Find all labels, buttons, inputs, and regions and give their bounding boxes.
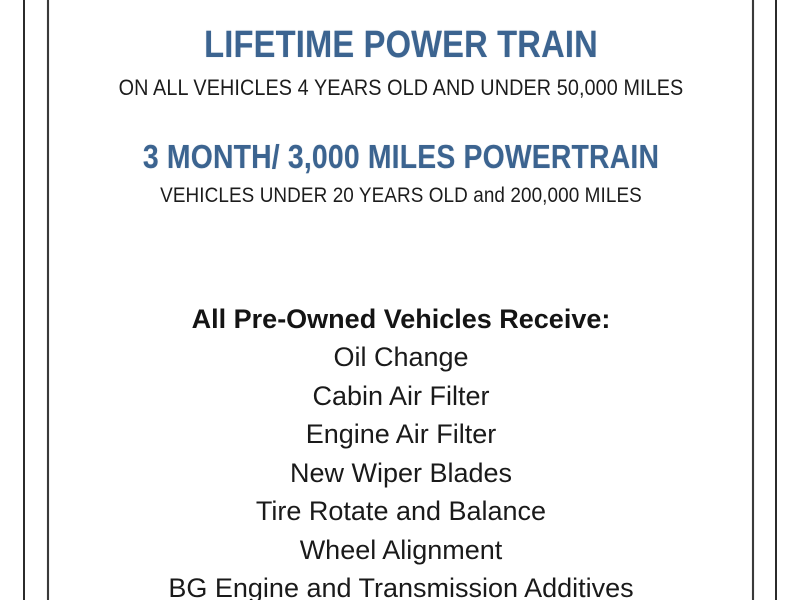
service-item: Engine Air Filter (52, 415, 750, 454)
page-border-rule-right-inner (752, 0, 754, 600)
service-item: Tire Rotate and Balance (52, 492, 750, 531)
warranty-block-3month: 3 MONTH/ 3,000 MILES POWERTRAIN VEHICLES… (52, 140, 750, 206)
warranty-subline: VEHICLES UNDER 20 YEARS OLD and 200,000 … (87, 185, 715, 206)
flyer-content: LIFETIME POWER TRAIN ON ALL VEHICLES 4 Y… (52, 0, 750, 600)
warranty-headline: 3 MONTH/ 3,000 MILES POWERTRAIN (101, 140, 701, 173)
warranty-headline: LIFETIME POWER TRAIN (101, 26, 701, 64)
warranty-subline: ON ALL VEHICLES 4 YEARS OLD AND UNDER 50… (87, 77, 715, 99)
services-section-title: All Pre-Owned Vehicles Receive: (52, 300, 750, 338)
service-item: Wheel Alignment (52, 531, 750, 570)
page-border-rule-right-outer (775, 0, 777, 600)
services-section: All Pre-Owned Vehicles Receive: Oil Chan… (52, 300, 750, 600)
flyer-page: LIFETIME POWER TRAIN ON ALL VEHICLES 4 Y… (0, 0, 800, 600)
service-item: New Wiper Blades (52, 454, 750, 493)
warranty-block-lifetime: LIFETIME POWER TRAIN ON ALL VEHICLES 4 Y… (52, 26, 750, 99)
service-item: BG Engine and Transmission Additives (52, 569, 750, 600)
page-border-rule-left-outer (23, 0, 25, 600)
page-border-rule-left-inner (47, 0, 49, 600)
service-item: Oil Change (52, 338, 750, 377)
service-item: Cabin Air Filter (52, 377, 750, 416)
